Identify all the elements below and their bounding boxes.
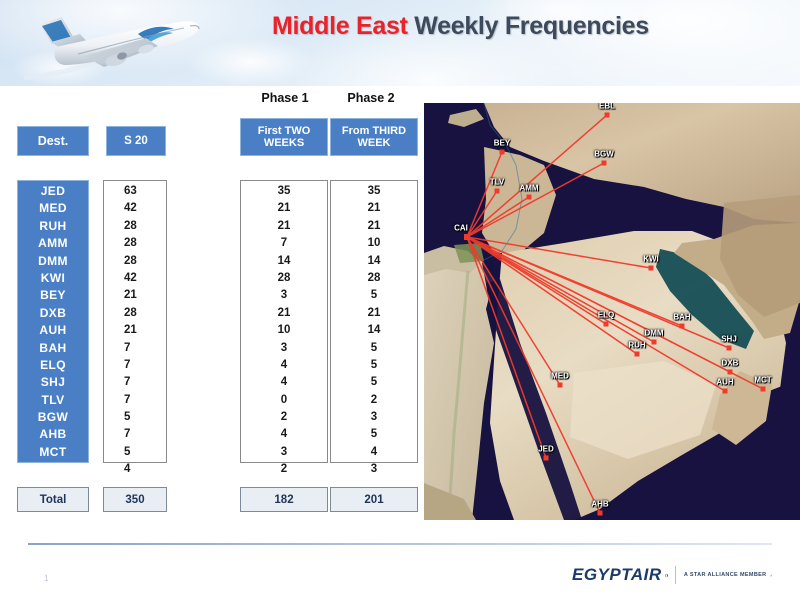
egyptair-footer-logo: EGYPTAIR A STAR ALLIANCE MEMBER xyxy=(572,562,772,588)
dest-cell-ruh: RUH xyxy=(18,218,88,235)
city-marker-ebl xyxy=(605,113,610,118)
phase2-cell-dxb: 21 xyxy=(331,305,417,322)
dest-cell-amm: AMM xyxy=(18,235,88,252)
dest-cell-elq: ELQ xyxy=(18,357,88,374)
phase2-cell-elq: 5 xyxy=(331,357,417,374)
phase2-cell-ahb: 5 xyxy=(331,426,417,443)
column-header-dest: Dest. xyxy=(17,126,89,156)
city-marker-med xyxy=(558,383,563,388)
dest-cell-mct: MCT xyxy=(18,444,88,461)
falcon-icon xyxy=(665,567,668,584)
destination-column: JEDMEDRUHAMMDMMKWIBEYDXBAUHBAHELQSHJTLVB… xyxy=(17,180,89,463)
s20-cell-ahb: 7 xyxy=(104,426,166,443)
airplane-illustration xyxy=(18,4,238,86)
s20-cell-bgw: 5 xyxy=(104,409,166,426)
slide-canvas: Middle East Weekly Frequencies Phase 1 P… xyxy=(0,0,800,598)
city-marker-ahb xyxy=(598,511,603,516)
header-banner: Middle East Weekly Frequencies xyxy=(0,0,800,86)
city-marker-elq xyxy=(604,322,609,327)
s20-cell-bey: 21 xyxy=(104,287,166,304)
phase1-cell-ahb: 4 xyxy=(241,426,327,443)
s20-cell-ebl: 4 xyxy=(104,461,166,478)
column-header-phase1: First TWO WEEKS xyxy=(240,118,328,156)
phase2-cell-ruh: 21 xyxy=(331,218,417,235)
dest-cell-jed: JED xyxy=(18,183,88,200)
egyptair-wordmark: EGYPTAIR xyxy=(572,565,662,585)
s20-cell-elq: 7 xyxy=(104,357,166,374)
city-marker-dxb xyxy=(728,370,733,375)
s20-cell-jed: 63 xyxy=(104,183,166,200)
phase1-cell-amm: 7 xyxy=(241,235,327,252)
phase1-cell-dxb: 21 xyxy=(241,305,327,322)
phase2-cell-bah: 5 xyxy=(331,340,417,357)
route-map: EBLBGWBEYTLVAMMKWIELQRUHDMMBAHSHJDXBAUHM… xyxy=(424,103,800,520)
s20-cell-dxb: 28 xyxy=(104,305,166,322)
phase1-cell-kwi: 28 xyxy=(241,270,327,287)
title-highlight: Middle East xyxy=(272,12,408,40)
city-marker-mct xyxy=(761,387,766,392)
total-s20: 350 xyxy=(103,487,167,512)
phase1-cell-shj: 4 xyxy=(241,374,327,391)
phase1-cell-bgw: 2 xyxy=(241,409,327,426)
phase2-cell-ebl: 3 xyxy=(331,461,417,478)
dest-cell-tlv: TLV xyxy=(18,392,88,409)
footer-divider-rule xyxy=(28,543,772,545)
phase2-cell-bey: 5 xyxy=(331,287,417,304)
dest-cell-bgw: BGW xyxy=(18,409,88,426)
phase2-cell-auh: 14 xyxy=(331,322,417,339)
phase-2-caption: Phase 2 xyxy=(326,91,416,105)
s20-cell-auh: 21 xyxy=(104,322,166,339)
s20-cell-dmm: 28 xyxy=(104,253,166,270)
s20-cell-amm: 28 xyxy=(104,235,166,252)
s20-cell-shj: 7 xyxy=(104,374,166,391)
phase2-cell-jed: 35 xyxy=(331,183,417,200)
dest-cell-kwi: KWI xyxy=(18,270,88,287)
dest-cell-shj: SHJ xyxy=(18,374,88,391)
dest-cell-bey: BEY xyxy=(18,287,88,304)
s20-cell-med: 42 xyxy=(104,200,166,217)
phase1-cell-tlv: 0 xyxy=(241,392,327,409)
total-phase2: 201 xyxy=(330,487,418,512)
phase2-cell-kwi: 28 xyxy=(331,270,417,287)
phase1-cell-dmm: 14 xyxy=(241,253,327,270)
city-marker-bey xyxy=(500,150,505,155)
phase2-cell-med: 21 xyxy=(331,200,417,217)
s20-cell-bah: 7 xyxy=(104,340,166,357)
phase1-cell-auh: 10 xyxy=(241,322,327,339)
dest-cell-dmm: DMM xyxy=(18,253,88,270)
city-marker-amm xyxy=(527,195,532,200)
phase2-column: 3521211014285211455523543 xyxy=(330,180,418,463)
s20-cell-tlv: 7 xyxy=(104,392,166,409)
phase2-cell-bgw: 3 xyxy=(331,409,417,426)
s20-cell-ruh: 28 xyxy=(104,218,166,235)
city-marker-bgw xyxy=(602,161,607,166)
phase1-cell-bah: 3 xyxy=(241,340,327,357)
phase2-cell-shj: 5 xyxy=(331,374,417,391)
phase1-cell-ebl: 2 xyxy=(241,461,327,478)
dest-cell-med: MED xyxy=(18,200,88,217)
phase2-cell-tlv: 2 xyxy=(331,392,417,409)
s20-cell-mct: 5 xyxy=(104,444,166,461)
page-number: 1 xyxy=(44,574,48,583)
dest-cell-bah: BAH xyxy=(18,340,88,357)
city-marker-bah xyxy=(680,324,685,329)
phase1-cell-jed: 35 xyxy=(241,183,327,200)
column-header-phase2: From THIRD WEEK xyxy=(330,118,418,156)
phase1-cell-elq: 4 xyxy=(241,357,327,374)
star-alliance-icon xyxy=(770,570,773,581)
phase1-cell-mct: 3 xyxy=(241,444,327,461)
dest-cell-dxb: DXB xyxy=(18,305,88,322)
phase1-cell-ruh: 21 xyxy=(241,218,327,235)
city-marker-dmm xyxy=(652,340,657,345)
city-marker-auh xyxy=(723,389,728,394)
total-label: Total xyxy=(17,487,89,512)
phase1-column: 352121714283211034402432 xyxy=(240,180,328,463)
city-marker-tlv xyxy=(495,189,500,194)
phase-1-caption: Phase 1 xyxy=(240,91,330,105)
column-header-s20: S 20 xyxy=(106,126,166,156)
dest-cell-ahb: AHB xyxy=(18,426,88,443)
title-rest: Weekly Frequencies xyxy=(408,12,649,40)
dest-cell-auh: AUH xyxy=(18,322,88,339)
s20-cell-kwi: 42 xyxy=(104,270,166,287)
page-title: Middle East Weekly Frequencies xyxy=(272,12,672,41)
city-marker-kwi xyxy=(649,266,654,271)
phase2-cell-mct: 4 xyxy=(331,444,417,461)
phase2-cell-amm: 10 xyxy=(331,235,417,252)
dest-cell-ebl: EBL xyxy=(18,461,88,478)
star-alliance-text: A STAR ALLIANCE MEMBER xyxy=(684,572,767,578)
phase1-cell-bey: 3 xyxy=(241,287,327,304)
total-phase1: 182 xyxy=(240,487,328,512)
city-marker-shj xyxy=(727,346,732,351)
phase1-cell-med: 21 xyxy=(241,200,327,217)
map-graphic xyxy=(424,103,800,520)
city-marker-ruh xyxy=(635,352,640,357)
phase2-cell-dmm: 14 xyxy=(331,253,417,270)
s20-column: 63422828284221282177775754 xyxy=(103,180,167,463)
city-marker-jed xyxy=(544,456,549,461)
